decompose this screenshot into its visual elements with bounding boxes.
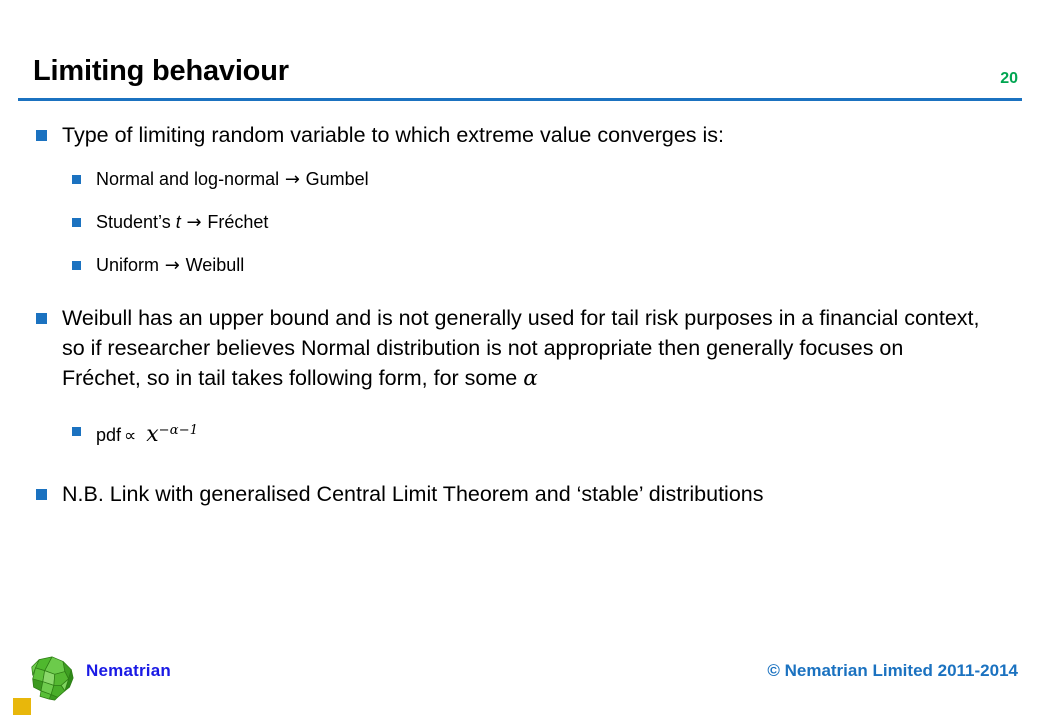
nematrian-logo-icon bbox=[29, 655, 75, 701]
formula-expression: pdf∝ x−α−1 bbox=[96, 418, 198, 449]
slide-body: Type of limiting random variable to whic… bbox=[0, 120, 1040, 513]
spacer bbox=[0, 453, 1040, 479]
bullet-square-icon bbox=[72, 175, 81, 184]
sub-bullet-item-1: Normal and log-normal → Gumbel bbox=[0, 166, 1040, 193]
sub-bullet-item-2: Student’s t → Fréchet bbox=[0, 209, 1040, 236]
title-divider bbox=[18, 98, 1022, 101]
sub-bullet-2-suffix: Fréchet bbox=[207, 212, 268, 232]
bullet-item-1: Type of limiting random variable to whic… bbox=[0, 120, 1040, 150]
formula-label: pdf bbox=[96, 425, 121, 445]
sub-bullet-3-prefix: Uniform bbox=[96, 255, 159, 275]
sub-bullet-item-3-label: Uniform → Weibull bbox=[96, 252, 244, 279]
spacer bbox=[0, 154, 1040, 166]
spacer bbox=[0, 283, 1040, 303]
sub-bullet-item-3: Uniform → Weibull bbox=[0, 252, 1040, 279]
sub-bullet-1-prefix: Normal and log-normal bbox=[96, 169, 279, 189]
spacer bbox=[0, 197, 1040, 209]
slide-canvas: Limiting behaviour 20 Type of limiting r… bbox=[0, 0, 1040, 720]
formula-bullet-item: pdf∝ x−α−1 bbox=[0, 418, 1040, 449]
alpha-symbol: α bbox=[523, 366, 538, 391]
sub-bullet-1-suffix: Gumbel bbox=[306, 169, 369, 189]
page-title: Limiting behaviour bbox=[33, 55, 289, 88]
bullet-item-2-label: Weibull has an upper bound and is not ge… bbox=[62, 303, 982, 394]
sub-bullet-2-prefix: Student’s bbox=[96, 212, 171, 232]
sub-bullet-item-1-label: Normal and log-normal → Gumbel bbox=[96, 166, 369, 193]
arrow-right-icon: → bbox=[181, 212, 208, 233]
proportional-to-icon: ∝ bbox=[121, 426, 141, 446]
brand-name: Nematrian bbox=[86, 661, 171, 681]
polyhedron-logo-svg bbox=[29, 655, 75, 701]
bullet-square-icon bbox=[72, 427, 81, 436]
bullet-item-3: N.B. Link with generalised Central Limit… bbox=[0, 479, 1040, 509]
bullet-square-icon bbox=[36, 489, 47, 500]
corner-accent-square bbox=[13, 698, 31, 715]
sub-bullet-3-suffix: Weibull bbox=[186, 255, 245, 275]
bullet-item-2-text: Weibull has an upper bound and is not ge… bbox=[62, 306, 980, 390]
arrow-right-icon: → bbox=[159, 255, 186, 276]
bullet-square-icon bbox=[36, 130, 47, 141]
formula-variable: x bbox=[146, 422, 158, 447]
spacer bbox=[0, 240, 1040, 252]
bullet-item-2: Weibull has an upper bound and is not ge… bbox=[0, 303, 1040, 394]
page-number: 20 bbox=[1000, 70, 1018, 88]
formula-exponent: −α−1 bbox=[159, 423, 199, 438]
bullet-square-icon bbox=[72, 261, 81, 270]
arrow-right-icon: → bbox=[279, 169, 306, 190]
bullet-square-icon bbox=[72, 218, 81, 227]
bullet-item-1-label: Type of limiting random variable to whic… bbox=[62, 120, 724, 150]
bullet-item-3-label: N.B. Link with generalised Central Limit… bbox=[62, 479, 763, 509]
spacer bbox=[0, 398, 1040, 418]
sub-bullet-item-2-label: Student’s t → Fréchet bbox=[96, 209, 268, 236]
copyright-notice: © Nematrian Limited 2011-2014 bbox=[767, 661, 1018, 681]
bullet-square-icon bbox=[36, 313, 47, 324]
